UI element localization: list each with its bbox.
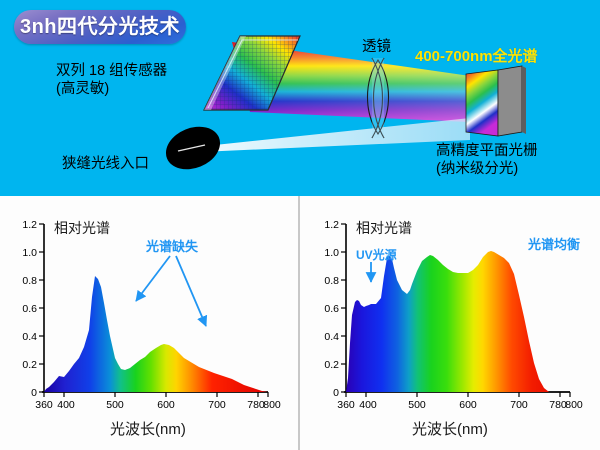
title-badge: 3nh四代分光技术 [14,10,186,44]
svg-text:500: 500 [408,399,426,411]
relative-spectrum-title-right: 相对光谱 [356,218,412,238]
diffraction-grating [466,66,526,136]
svg-text:0.6: 0.6 [22,303,37,315]
svg-text:600: 600 [459,399,477,411]
svg-text:360: 360 [337,399,355,411]
conventional-spectrum-chart: 0 0.2 0.4 0.6 0.8 1.0 1.2 360 400 500 60… [0,196,298,450]
x-axis-title-right: 光波长(nm) [412,418,488,439]
svg-text:800: 800 [565,399,583,411]
svg-text:0.4: 0.4 [324,331,339,343]
svg-text:0: 0 [333,387,339,399]
slit-entrance-label: 狭缝光线入口 [62,155,149,173]
sensor-array-label: 双列 18 组传感器 (高灵敏) [56,62,167,98]
svg-text:600: 600 [157,399,175,411]
svg-text:400: 400 [57,399,75,411]
svg-text:700: 700 [510,399,528,411]
svg-text:0.2: 0.2 [22,359,37,371]
svg-text:400: 400 [359,399,377,411]
relative-spectrum-title-left: 相对光谱 [54,218,110,238]
annotation-uv-source: UV光源 [356,246,397,263]
svg-text:0.6: 0.6 [324,303,339,315]
svg-text:0.2: 0.2 [324,359,339,371]
incident-light-beam [196,118,470,152]
lens-label: 透镜 [362,38,391,56]
svg-text:500: 500 [106,399,124,411]
svg-text:1.2: 1.2 [324,219,339,231]
svg-text:0.8: 0.8 [324,275,339,287]
svg-text:1.0: 1.0 [22,247,37,259]
badge-title-text: 3nh四代分光技术 [14,10,186,44]
annotation-spectrum-balanced: 光谱均衡 [528,234,580,253]
chart-panel-conventional: 0 0.2 0.4 0.6 0.8 1.0 1.2 360 400 500 60… [0,196,300,450]
infographic-root: 3nh四代分光技术 双列 18 组传感器 (高灵敏) 狭缝光线入口 透镜 400… [0,0,600,450]
chart-panel-balanced: 0 0.2 0.4 0.6 0.8 1.0 1.2 360 400 500 60… [300,196,600,450]
svg-text:360: 360 [35,399,53,411]
full-spectrum-label: 400-700nm全光谱 [415,48,538,66]
svg-text:0.8: 0.8 [22,275,37,287]
spectrum-curve-right [346,251,570,392]
x-axis-title-left: 光波长(nm) [110,418,186,439]
svg-text:700: 700 [208,399,226,411]
svg-text:1.2: 1.2 [22,219,37,231]
optical-path-diagram: 3nh四代分光技术 双列 18 组传感器 (高灵敏) 狭缝光线入口 透镜 400… [0,0,600,196]
svg-text:0: 0 [31,387,37,399]
grating-label: 高精度平面光栅 (纳米级分光) [436,142,538,178]
annotation-spectrum-missing: 光谱缺失 [146,236,198,255]
spectrum-charts: 0 0.2 0.4 0.6 0.8 1.0 1.2 360 400 500 60… [0,196,600,450]
svg-text:0.4: 0.4 [22,331,37,343]
spectrum-curve-left [44,276,268,392]
svg-text:1.0: 1.0 [324,247,339,259]
svg-text:800: 800 [263,399,281,411]
slit-aperture [160,119,227,177]
